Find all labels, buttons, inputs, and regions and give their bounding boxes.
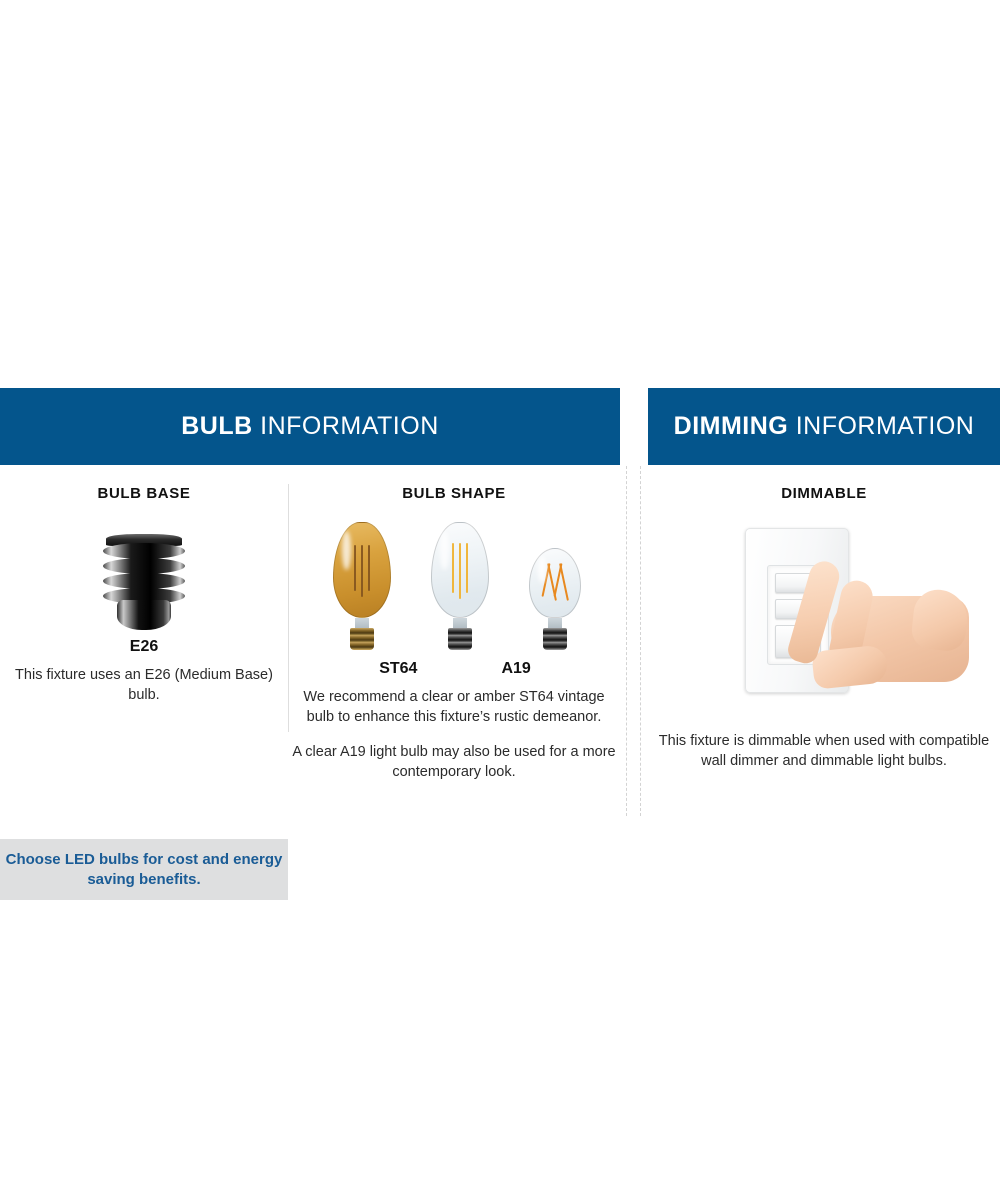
- bulb-shape-images: [288, 522, 620, 650]
- amber-st64-filament: [354, 545, 370, 597]
- clear-st64-screw-base: [448, 628, 472, 650]
- e26-thread-1: [103, 543, 185, 559]
- bulb-shape-paragraph-2: A clear A19 light bulb may also be used …: [288, 743, 620, 782]
- hand-knuckles: [910, 587, 970, 652]
- dimming-information-panel: DIMMING INFORMATION DIMMABLE: [648, 388, 1000, 782]
- bulb-base-title: BULB BASE: [0, 485, 288, 502]
- info-panels-row: BULB INFORMATION BULB BASE: [0, 388, 1000, 782]
- dimming-information-header-text: DIMMING INFORMATION: [674, 412, 975, 441]
- clear-a19-filament: [545, 563, 565, 601]
- bulb-base-column: BULB BASE E26 This fixture uses an E26 (: [0, 485, 288, 782]
- panel-separator: [620, 388, 648, 782]
- clear-a19-bulb-graphic: [529, 548, 581, 650]
- clear-a19-screw-base: [543, 628, 567, 650]
- e26-tip: [117, 600, 171, 630]
- dimming-header-strong: DIMMING: [674, 412, 789, 440]
- amber-st64-stem: [355, 618, 369, 628]
- led-savings-callout-text: Choose LED bulbs for cost and energy sav…: [0, 850, 288, 889]
- clear-st64-bulb-graphic: [431, 522, 489, 650]
- amber-st64-glass: [333, 522, 391, 618]
- e26-base-image: [0, 522, 288, 630]
- led-savings-callout: Choose LED bulbs for cost and energy sav…: [0, 839, 288, 900]
- dashed-divider-right: [640, 466, 641, 816]
- bulb-shape-column: BULB SHAPE: [288, 485, 620, 782]
- bulb-information-body: BULB BASE E26 This fixture uses an E26 (: [0, 465, 620, 782]
- dimming-header-rest: INFORMATION: [788, 412, 974, 440]
- st64-label: ST64: [379, 660, 417, 678]
- clear-a19-stem: [548, 618, 562, 628]
- dimmer-switch-graphic: [699, 522, 949, 712]
- bulb-shape-title: BULB SHAPE: [288, 485, 620, 502]
- clear-st64-glass: [431, 522, 489, 618]
- e26-thread-3: [103, 573, 185, 589]
- a19-label: A19: [501, 660, 530, 678]
- dashed-divider-left: [626, 466, 627, 816]
- clear-a19-glass: [529, 548, 581, 618]
- clear-st64-filament: [452, 543, 468, 599]
- hand-thumb: [811, 644, 889, 690]
- bulb-base-caption: E26: [0, 638, 288, 656]
- dimmable-title: DIMMABLE: [648, 485, 1000, 502]
- dimmable-description: This fixture is dimmable when used with …: [648, 732, 1000, 771]
- e26-thread-2: [103, 558, 185, 574]
- bulb-header-strong: BULB: [181, 412, 252, 440]
- amber-st64-screw-base: [350, 628, 374, 650]
- hand-graphic: [795, 560, 965, 690]
- bulb-and-dimming-info-page: BULB INFORMATION BULB BASE: [0, 0, 1000, 1200]
- amber-st64-bulb-graphic: [333, 522, 391, 650]
- bulb-information-header-text: BULB INFORMATION: [181, 412, 439, 441]
- e26-screw-base-graphic: [101, 534, 187, 630]
- bulb-information-header: BULB INFORMATION: [0, 388, 620, 465]
- dimming-information-body: DIMMABLE: [648, 465, 1000, 771]
- dimmer-switch-image: [648, 522, 1000, 722]
- dimming-information-header: DIMMING INFORMATION: [648, 388, 1000, 465]
- bulb-base-description: This fixture uses an E26 (Medium Base) b…: [0, 666, 288, 705]
- bulb-shape-paragraph-1: We recommend a clear or amber ST64 vinta…: [288, 688, 620, 727]
- clear-st64-stem: [453, 618, 467, 628]
- bulb-information-panel: BULB INFORMATION BULB BASE: [0, 388, 620, 782]
- bulb-header-rest: INFORMATION: [253, 412, 439, 440]
